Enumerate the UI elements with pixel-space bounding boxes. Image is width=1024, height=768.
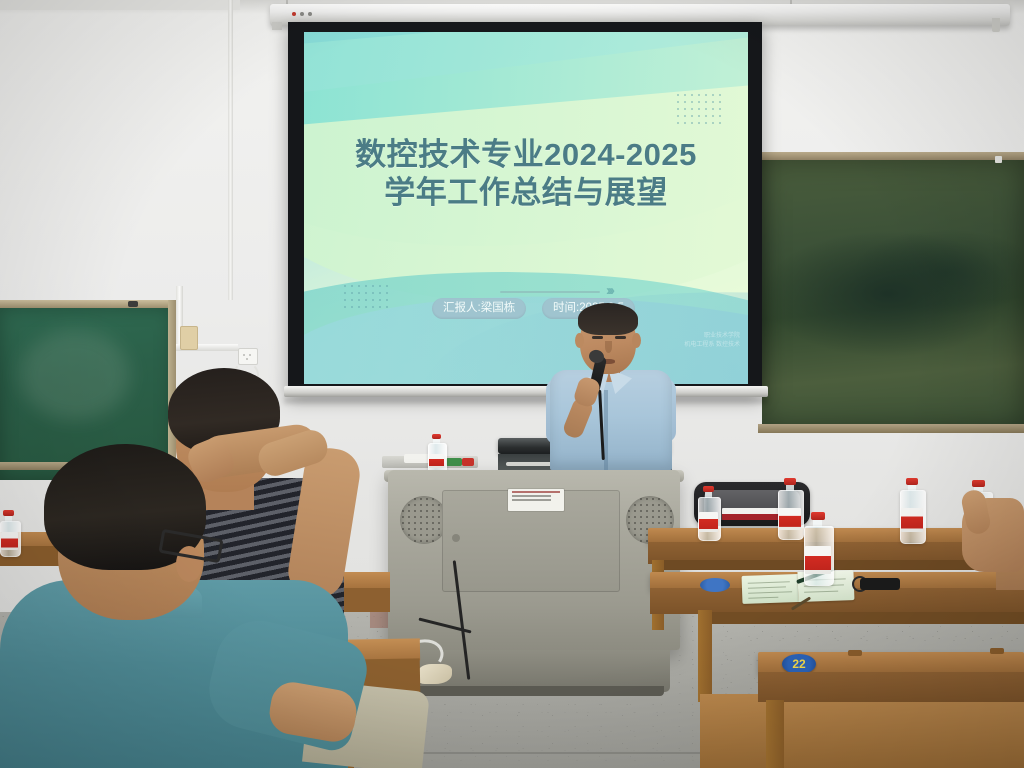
chalk-smudge-left	[20, 330, 130, 420]
podium-speaker-left	[400, 496, 448, 544]
slide-dot-grid-top-right	[677, 94, 726, 129]
desk-row-1-front	[758, 672, 1024, 702]
desk-row-1-leg	[766, 700, 784, 768]
podium-foot	[404, 686, 664, 696]
presenter-eye-left	[592, 336, 603, 339]
desk-row-3-shelf	[664, 560, 1016, 570]
desk-row-2-shelf	[712, 612, 1024, 624]
presenter-ear-left	[575, 333, 584, 348]
slide-dot-grid-bottom-left	[344, 285, 393, 313]
slide-watermark-line-2: 机电工程系 数控技术	[684, 341, 740, 350]
chalkboard-clip-icon	[995, 156, 1002, 163]
car-keys[interactable]	[860, 578, 900, 590]
presenter-nose	[605, 341, 612, 353]
roller-indicator-red	[292, 12, 296, 16]
open-notebook[interactable]	[741, 570, 854, 606]
ceiling-rail	[0, 0, 240, 10]
slide-title: 数控技术专业2024-2025 学年工作总结与展望	[304, 136, 748, 213]
notebook-page-left	[742, 574, 799, 604]
chalkboard-frame-top-left	[0, 300, 176, 308]
chalkboard-right	[762, 160, 1024, 428]
white-item-on-table	[404, 454, 430, 463]
chalkboard-magnet-icon	[128, 301, 138, 307]
chalkboard-frame-bottom-right	[758, 424, 1024, 433]
red-item-on-table	[462, 458, 474, 466]
wall-plate-beige[interactable]	[180, 326, 198, 350]
desk-number-sticker-22: 22	[782, 654, 816, 674]
chevron-right-icon: ›››	[606, 282, 612, 299]
presenter-hair	[578, 303, 638, 335]
bench-row-1	[700, 694, 1024, 768]
podium-latch[interactable]	[452, 534, 460, 542]
desk-row-2-leg	[698, 610, 712, 702]
podium-asset-label	[508, 489, 564, 511]
roller-indicator-gray-1	[300, 12, 304, 16]
paper-on-floor	[418, 664, 452, 684]
presenter-eye-right	[615, 336, 626, 339]
slide-title-line-1: 数控技术专业2024-2025	[304, 136, 748, 174]
desk-sticker-blank	[700, 578, 730, 592]
presenter-ear-right	[632, 333, 641, 348]
slide-title-line-2: 学年工作总结与展望	[304, 174, 748, 212]
desk-notch-1	[848, 650, 862, 656]
roller-bracket-left	[272, 22, 282, 30]
screen-drop-shadow	[284, 397, 768, 404]
slide-divider-rule	[500, 291, 600, 293]
presenter-brow-left	[591, 330, 604, 332]
classroom-photo: 数控技术专业2024-2025 学年工作总结与展望 ››› 汇报人:梁国栋 时间…	[0, 0, 1024, 768]
roller-indicator-gray-2	[308, 12, 312, 16]
wall-seam	[228, 0, 233, 300]
slide-watermark-line-1: 职业技术学院	[684, 332, 740, 341]
slide-presenter-badge: 汇报人:梁国栋	[432, 298, 526, 319]
presentation-slide: 数控技术专业2024-2025 学年工作总结与展望 ››› 汇报人:梁国栋 时间…	[304, 32, 748, 384]
slide-watermark: 职业技术学院 机电工程系 数控技术	[684, 332, 740, 350]
presenter-brow-right	[614, 330, 627, 332]
projection-screen-bottom-bar	[284, 386, 768, 397]
green-item-on-table	[446, 458, 462, 466]
desk-notch-2	[990, 648, 1004, 654]
roller-bracket-right	[992, 18, 1000, 32]
